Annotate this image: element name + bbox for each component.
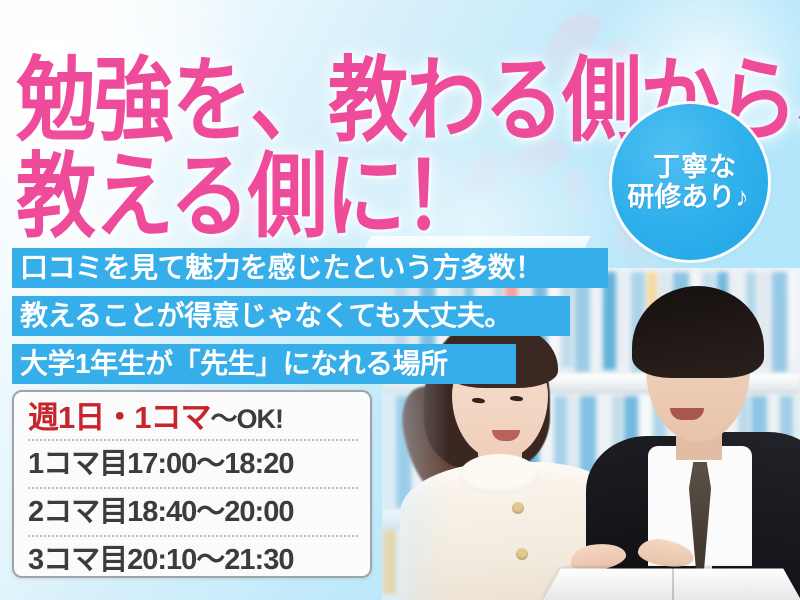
turtleneck-collar [460,454,538,494]
schedule-row: 2コマ目18:40〜20:00 [28,487,358,535]
training-badge: 丁寧な 研修あり♪ [612,104,768,260]
highlight-line-2: 教えることが得意じゃなくても大丈夫。 [12,296,570,336]
highlight-line-1: 口コミを見て魅力を感じたという方多数！ [12,248,608,288]
headline-line-2: 教える側に！ [16,122,482,257]
eye [662,372,676,377]
schedule-card: 週1日・1コマ〜OK! 1コマ目17:00〜18:20 2コマ目18:40〜20… [12,390,372,578]
schedule-title-gray: 〜OK! [210,404,283,434]
badge-line-2: 研修あり♪ [627,182,749,212]
eye [510,396,523,402]
eye [704,370,718,375]
hair [632,286,764,378]
schedule-title: 週1日・1コマ〜OK! [28,398,358,439]
person-man [604,286,800,600]
button [512,502,524,514]
open-book [542,569,800,600]
schedule-row: 3コマ目20:10〜21:30 [28,535,358,583]
schedule-row: 1コマ目17:00〜18:20 [28,439,358,487]
highlight-line-3: 大学1年生が「先生」になれる場所 [12,344,516,384]
schedule-title-red: 週1日・1コマ [28,400,210,435]
petal-icon [555,165,604,221]
badge-line-1: 丁寧な [653,152,737,182]
recruitment-banner: 勉強を、教わる側から、 教える側に！ 丁寧な 研修あり♪ 口コミを見て魅力を感じ… [0,0,800,600]
button [516,548,528,560]
